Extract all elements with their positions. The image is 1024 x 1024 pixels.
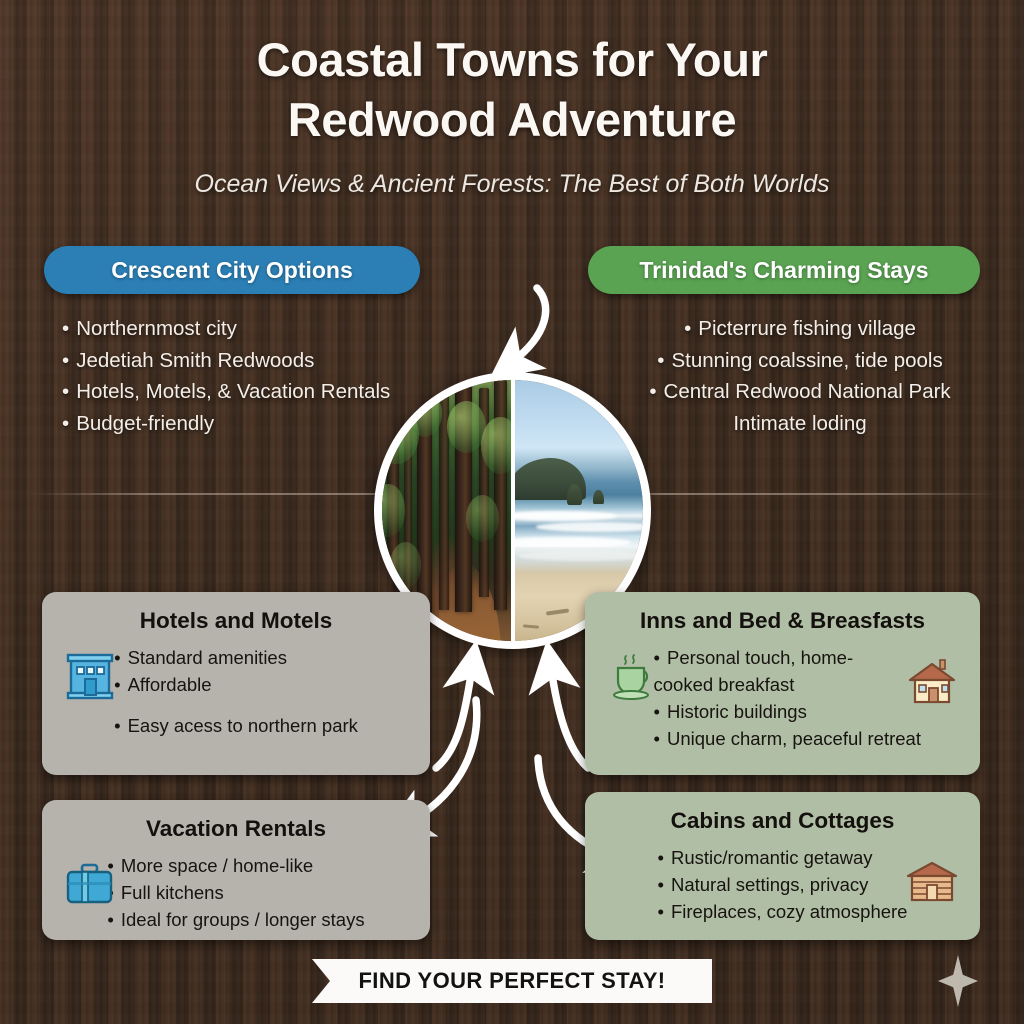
list-item-label: More space / home-like — [121, 855, 313, 876]
suitcase-icon — [62, 856, 118, 912]
sea-stack — [593, 490, 603, 504]
list-item: •Easy acess to northern park — [114, 712, 358, 739]
list-item-label: Historic buildings — [667, 701, 807, 722]
bullet-icon: • — [654, 728, 660, 749]
list-item: •Personal touch, home-cooked breakfast — [654, 644, 912, 698]
sea-stack — [567, 484, 581, 505]
bullet-icon: • — [649, 380, 656, 403]
card-title: Hotels and Motels — [60, 608, 412, 634]
list-item-label: Personal touch, home-cooked breakfast — [654, 647, 854, 695]
bullet-icon: • — [107, 909, 113, 930]
list-item: •Stunning coalssine, tide pools — [600, 345, 1000, 377]
card-body: •More space / home-like •Full kitchens •… — [60, 852, 412, 933]
list-item-label: Unique charm, peaceful retreat — [667, 728, 921, 749]
list-item-label: Standard amenities — [128, 647, 287, 668]
list-item-label: Rustic/romantic getaway — [671, 847, 873, 868]
list-item-label: Ideal for groups / longer stays — [121, 909, 365, 930]
bullet-icon: • — [62, 380, 69, 403]
list-item: •Ideal for groups / longer stays — [107, 906, 364, 933]
list-item: •Affordable — [114, 671, 358, 698]
list-item: •Standard amenities — [114, 644, 358, 671]
section-header-crescent-city: Crescent City Options — [44, 246, 420, 294]
bullet-icon: • — [654, 701, 660, 722]
list-item: •Central Redwood National Park — [600, 376, 1000, 408]
title-block: Coastal Towns for Your Redwood Adventure… — [0, 30, 1024, 199]
trinidad-bullet-list: •Picterrure fishing village •Stunning co… — [600, 313, 1000, 439]
bullet-icon: • — [62, 349, 69, 372]
cottage-house-icon — [904, 654, 960, 710]
bullet-icon: • — [62, 412, 69, 435]
bullet-icon: • — [114, 715, 120, 736]
card-cabins-and-cottages[interactable]: Cabins and Cottages •Rustic/romantic get… — [585, 792, 980, 940]
list-item-label: Natural settings, privacy — [671, 874, 868, 895]
list-item-label: Budget-friendly — [76, 412, 214, 435]
list-item-label: Affordable — [128, 674, 212, 695]
list-item-label: Picterrure fishing village — [698, 317, 916, 340]
log-cabin-icon — [904, 854, 960, 910]
list-item-label: Central Redwood National Park — [664, 380, 951, 403]
card-title: Cabins and Cottages — [603, 808, 962, 834]
bullet-icon: • — [62, 317, 69, 340]
arrow-up-right-to-circle — [551, 668, 588, 768]
infographic-canvas: Coastal Towns for Your Redwood Adventure… — [0, 0, 1024, 1024]
list-item-label: Intimate loding — [733, 412, 866, 435]
list-item: •Picterrure fishing village — [600, 313, 1000, 345]
card-title: Inns and Bed & Breasfasts — [603, 608, 962, 634]
list-item-label: Easy acess to northern park — [128, 715, 358, 736]
card-hotels-and-motels[interactable]: Hotels and Motels •Standard amenities •A… — [42, 592, 430, 775]
page-title-line-1: Coastal Towns for Your — [0, 30, 1024, 90]
page-subtitle: Ocean Views & Ancient Forests: The Best … — [0, 170, 1024, 199]
list-item: •Unique charm, peaceful retreat — [654, 725, 912, 752]
list-item-label: Hotels, Motels, & Vacation Rentals — [76, 380, 390, 403]
hotel-building-icon — [62, 648, 118, 704]
card-body: •Personal touch, home-cooked breakfast •… — [603, 644, 962, 752]
section-header-trinidad-label: Trinidad's Charming Stays — [639, 257, 928, 284]
arrow-down-to-circle — [512, 288, 546, 362]
list-item-label: Full kitchens — [121, 882, 224, 903]
list-item: •Full kitchens — [107, 879, 364, 906]
card-bullet-list: •Rustic/romantic getaway •Natural settin… — [658, 844, 908, 925]
bullet-icon: • — [658, 874, 664, 895]
list-item: •Northernmost city — [62, 313, 462, 345]
bullet-icon: • — [658, 847, 664, 868]
list-item: •Historic buildings — [654, 698, 912, 725]
call-to-action-label: FIND YOUR PERFECT STAY! — [358, 968, 665, 994]
bullet-icon: • — [657, 349, 664, 372]
driftwood — [523, 625, 539, 629]
driftwood — [546, 608, 570, 615]
list-item-label: Jedetiah Smith Redwoods — [76, 349, 314, 372]
bullet-icon: • — [684, 317, 691, 340]
list-item: •Jedetiah Smith Redwoods — [62, 345, 462, 377]
list-item-label: Northernmost city — [76, 317, 237, 340]
page-title-line-2: Redwood Adventure — [0, 90, 1024, 150]
card-body: •Rustic/romantic getaway •Natural settin… — [603, 844, 962, 925]
card-inns-and-bed-breakfasts[interactable]: Inns and Bed & Breasfasts •Personal touc… — [585, 592, 980, 775]
list-item-label: Stunning coalssine, tide pools — [671, 349, 942, 372]
card-title: Vacation Rentals — [60, 816, 412, 842]
card-vacation-rentals[interactable]: Vacation Rentals •More space / home-like… — [42, 800, 430, 940]
section-header-trinidad: Trinidad's Charming Stays — [588, 246, 980, 294]
wet-sand-band — [513, 547, 644, 573]
photo-split-seam — [511, 380, 515, 641]
bullet-icon: • — [658, 901, 664, 922]
list-item-no-bullet: Intimate loding — [600, 408, 1000, 440]
teacup-icon — [605, 648, 661, 704]
call-to-action-ribbon[interactable]: FIND YOUR PERFECT STAY! — [312, 959, 712, 1003]
card-body: •Standard amenities •Affordable •Easy ac… — [60, 644, 412, 739]
card-bullet-list: •Personal touch, home-cooked breakfast •… — [654, 644, 912, 752]
card-bullet-list: •Standard amenities •Affordable •Easy ac… — [114, 644, 358, 739]
list-item: •Fireplaces, cozy atmosphere — [658, 898, 908, 925]
list-item: •More space / home-like — [107, 852, 364, 879]
sparkle-star-icon — [938, 955, 978, 1007]
section-header-crescent-city-label: Crescent City Options — [111, 257, 353, 284]
card-bullet-list: •More space / home-like •Full kitchens •… — [107, 852, 364, 933]
list-item: •Rustic/romantic getaway — [658, 844, 908, 871]
arrow-up-left-to-circle — [436, 668, 472, 768]
list-item: •Natural settings, privacy — [658, 871, 908, 898]
list-item-label: Fireplaces, cozy atmosphere — [671, 901, 908, 922]
